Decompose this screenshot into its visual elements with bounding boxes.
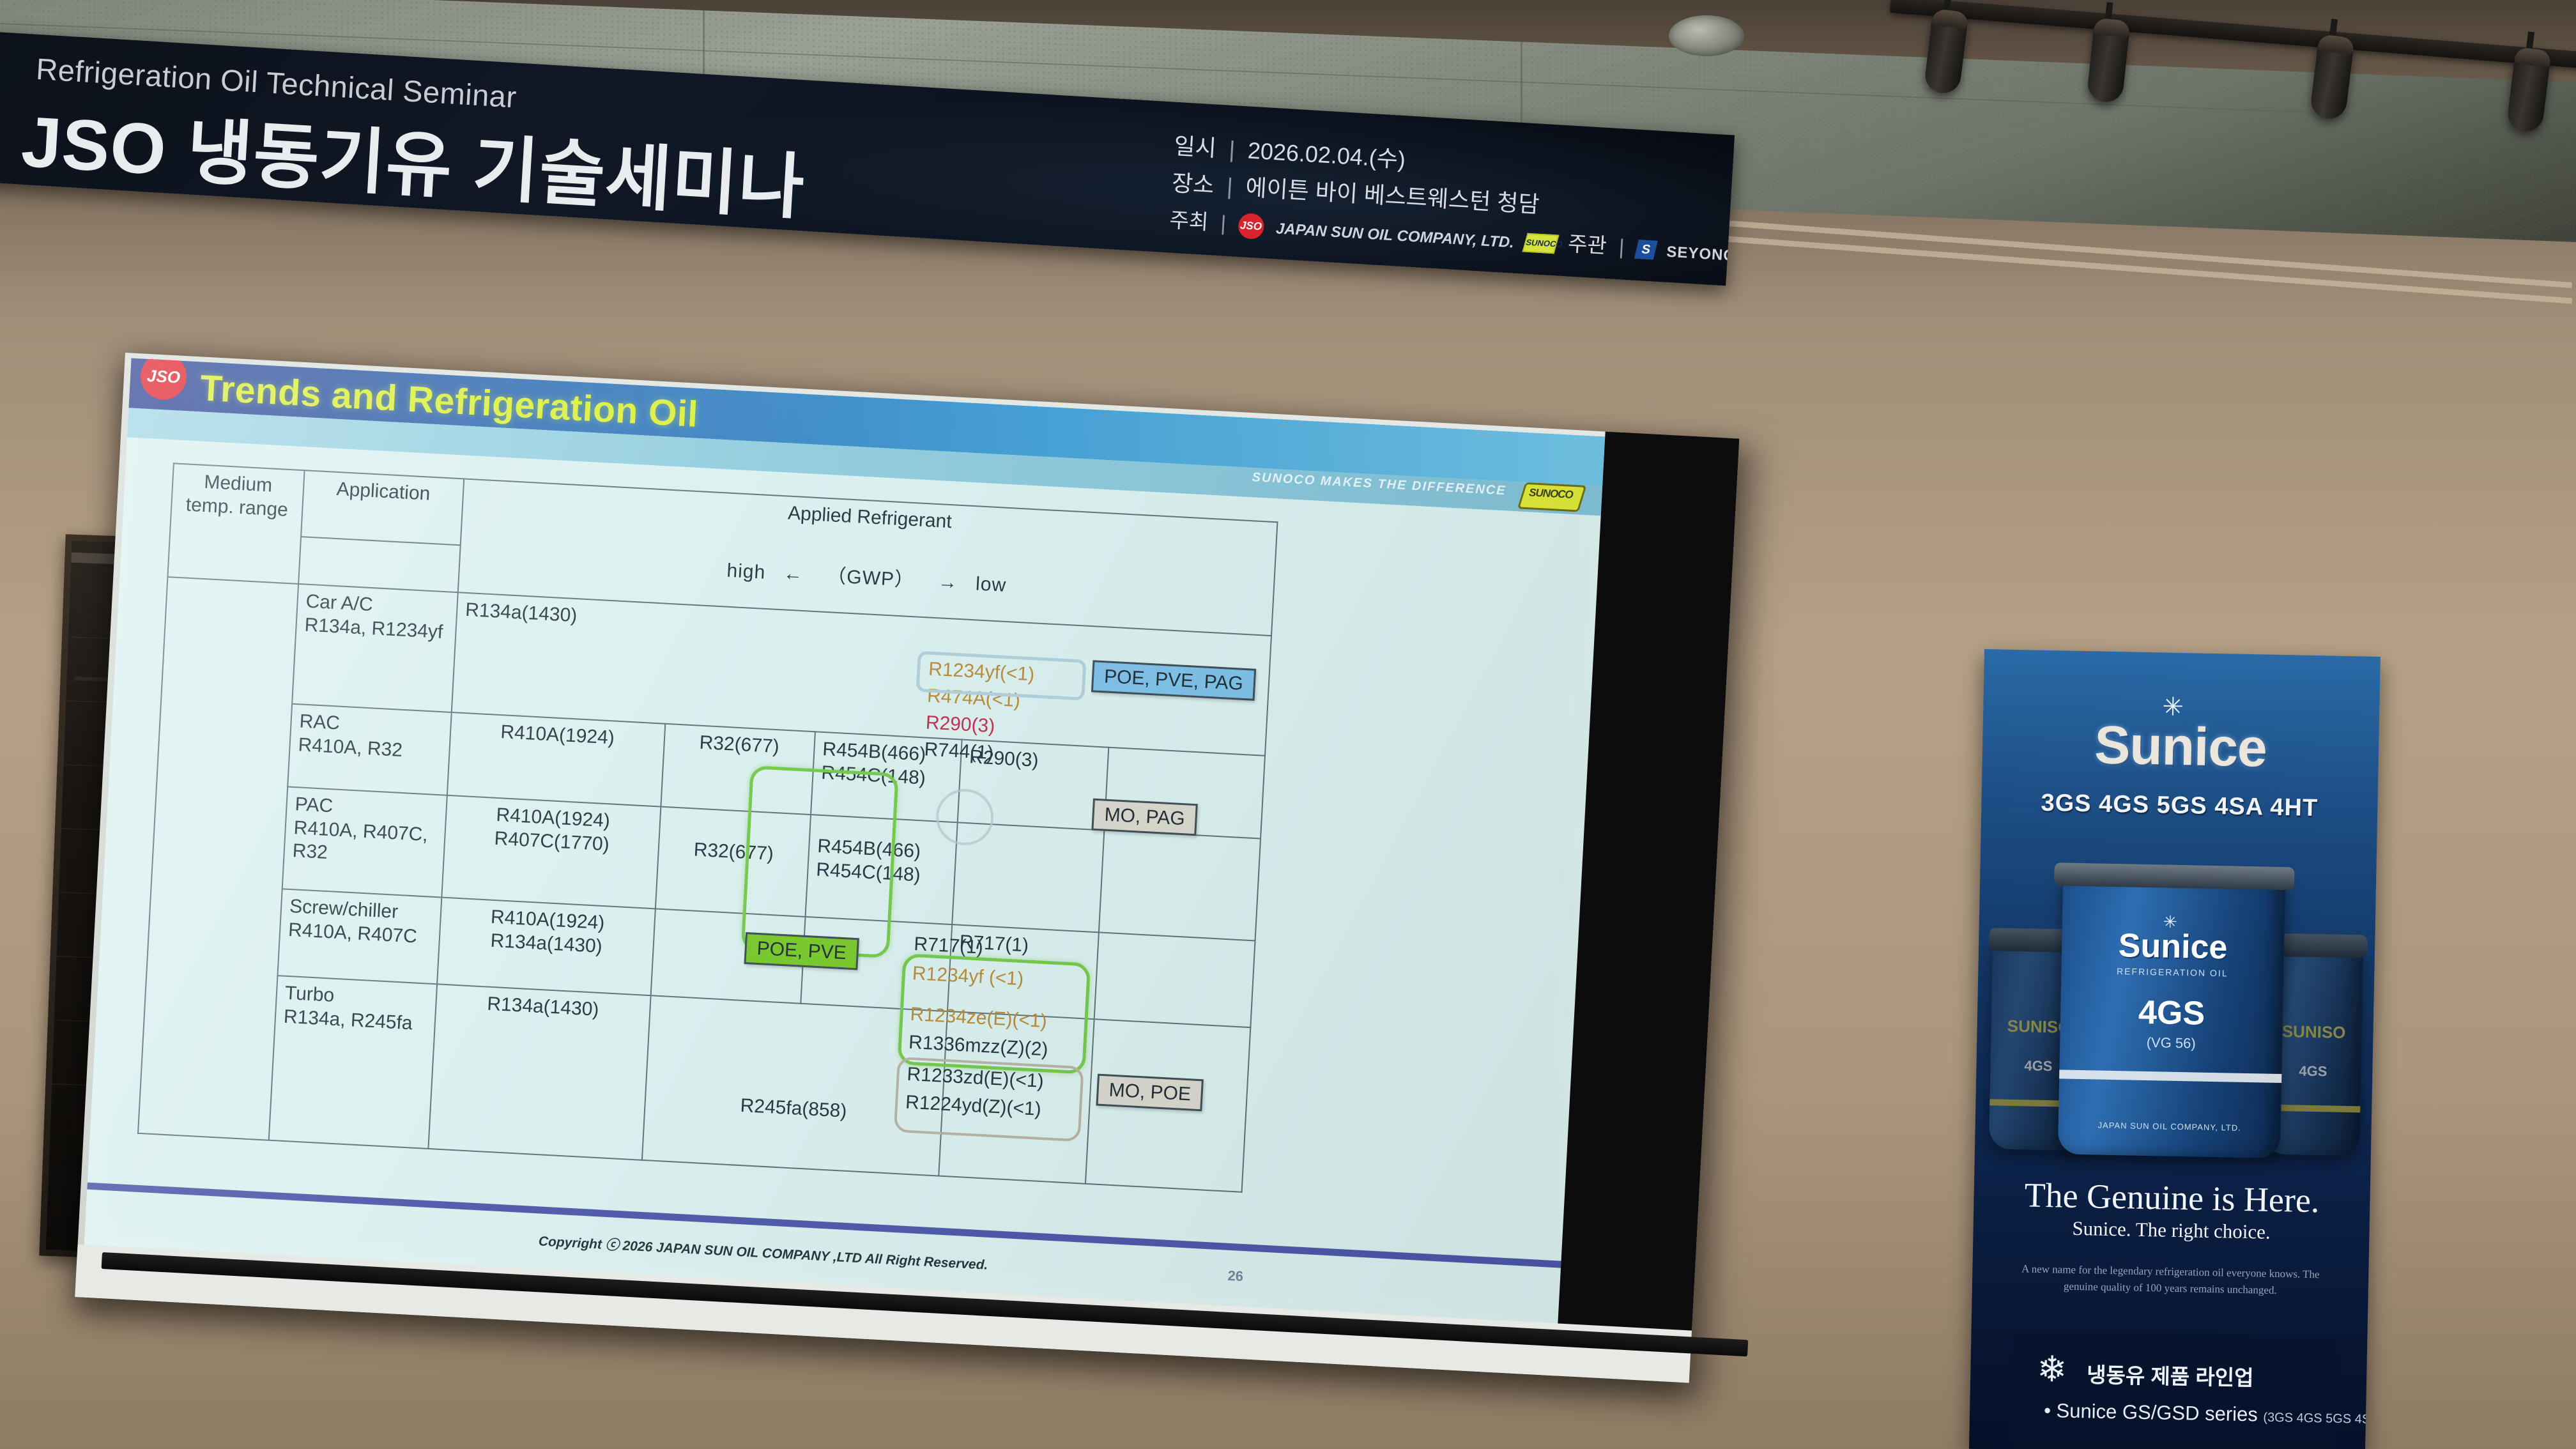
oil-chip-screw-chiller: POE, PVE — [744, 932, 859, 970]
room-scene: JSO Trends and Refrigeration Oil SUNOCO … — [0, 0, 2576, 1449]
oil-type-cell — [1094, 932, 1255, 1027]
temp-range-label: Medium temp. range — [185, 471, 289, 521]
pail-company: JAPAN SUN OIL COMPANY, LTD. — [2058, 1119, 2281, 1133]
pail-lid — [2054, 862, 2294, 890]
banner-organizer-label: 주관 — [1567, 232, 1607, 258]
projection-screen: JSO Trends and Refrigeration Oil SUNOCO … — [75, 353, 1739, 1383]
banner-separator: | — [1220, 211, 1227, 234]
refrigerant-high-cell: R410A(1924) — [447, 712, 665, 807]
refrigerant-high-cell: R134a(1430) — [428, 984, 650, 1160]
sunice-poster: ✳ Sunice 3GS 4GS 5GS 4SA 4HT SUNISO 4GS … — [1969, 649, 2380, 1449]
gwp-low-label: low — [975, 573, 1007, 596]
oil-type-cell — [1099, 831, 1261, 941]
header-application: Application — [301, 470, 464, 545]
application-cell: RAC R410A, R32 — [287, 704, 452, 795]
poster-lineup-title: 냉동유 제품 라인업 — [2087, 1358, 2254, 1391]
oil-chip-rac: MO, PAG — [1091, 799, 1198, 836]
sunoco-logo-icon: SUNOCO — [1522, 233, 1560, 254]
sunoco-logo-icon: SUNOCO — [1515, 479, 1586, 512]
gwp-arrow-right-icon: → — [937, 571, 958, 594]
banner-separator: | — [1229, 136, 1236, 162]
refrigerant-low-R290: R290(3) — [925, 712, 995, 738]
poster-lineup-item-sub: (3GS 4GS 5GS 4SA 4HT) — [2263, 1411, 2380, 1427]
temp-range-cell: Medium temp. range — [167, 463, 304, 584]
gwp-high-label: high — [726, 560, 766, 583]
application-cell: Turbo R134a, R245fa — [269, 976, 437, 1149]
slide-copyright: Copyright ⓒ 2026 JAPAN SUN OIL COMPANY ,… — [538, 1230, 988, 1273]
seyong-logo-icon: S — [1634, 240, 1658, 259]
highlight-box-R454-group — [741, 765, 899, 958]
highlight-box-lowgwp-turbo — [897, 953, 1091, 1074]
pail-grade: 4GS — [2060, 992, 2283, 1034]
banner-separator: | — [1618, 234, 1625, 258]
banner-place-label: 장소 — [1171, 170, 1215, 199]
poster-tagline: The Genuine is Here. — [1974, 1174, 2370, 1222]
ceiling-vent — [1669, 15, 1744, 56]
poster-series-line: 3GS 4GS 5GS 4SA 4HT — [1981, 788, 2378, 824]
oil-chip-turbo: MO, POE — [1096, 1074, 1204, 1112]
pail-band — [2059, 1069, 2281, 1083]
highlight-box-R1233-R1224 — [894, 1057, 1084, 1142]
refrigerant-high-cell: R410A(1924) R134a(1430) — [437, 898, 655, 996]
gwp-arrow-left-icon: ← — [783, 563, 804, 585]
banner-host-label: 주최 — [1169, 208, 1209, 234]
banner-separator: | — [1226, 173, 1234, 199]
poster-lineup-item-label: • Sunice GS/GSD series — [2044, 1399, 2258, 1425]
header-applied-refrigerant-label: Applied Refrigerant — [787, 503, 952, 533]
pail-brand: Sunice — [2062, 925, 2285, 968]
pail-viscosity: (VG 56) — [2060, 1032, 2282, 1054]
banner-date-label: 일시 — [1173, 133, 1217, 162]
poster-body-text: A new name for the legendary refrigerati… — [2011, 1261, 2331, 1300]
presentation-slide: JSO Trends and Refrigeration Oil SUNOCO … — [84, 358, 1606, 1324]
jso-logo-icon: JSO — [1238, 213, 1264, 240]
snowflake-icon: ❄ — [2037, 1348, 2067, 1391]
slide-page-number: 26 — [1227, 1268, 1244, 1285]
header-application-spacer — [298, 537, 461, 592]
poster-brand-logo: Sunice — [1982, 712, 2379, 781]
gwp-label: （GWP） — [827, 565, 915, 591]
main-pail: ✳ Sunice REFRIGERATION OIL 4GS (VG 56) J… — [2058, 873, 2285, 1158]
refrigerant-high-cell: R410A(1924) R407C(1770) — [441, 795, 661, 909]
application-cell: Screw/chiller R410A, R407C — [277, 889, 441, 984]
application-cell: PAC R410A, R407C, R32 — [282, 786, 447, 897]
refrigerant-low-R744: R744(1) — [924, 739, 994, 764]
application-cell: Car A/C R134a, R1234yf — [292, 584, 458, 712]
